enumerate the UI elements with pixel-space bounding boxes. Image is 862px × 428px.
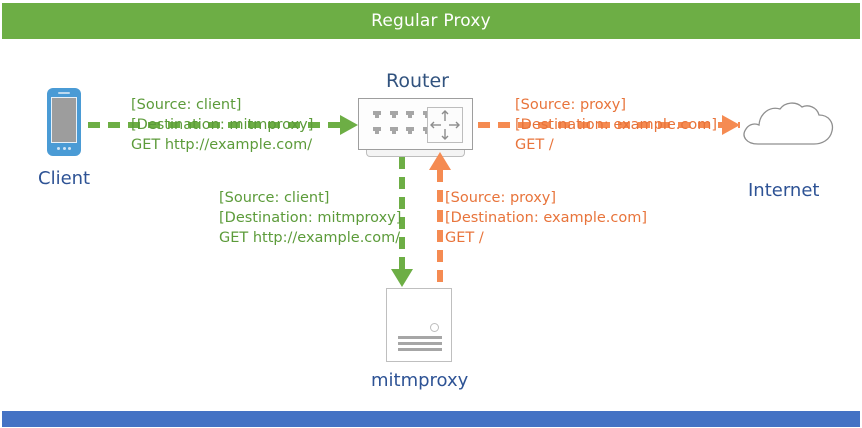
router-port [404, 111, 417, 124]
document-text-line [398, 342, 442, 345]
flow-router-to-mitmproxy-arrowhead [391, 269, 413, 287]
page-title: Regular Proxy [371, 11, 491, 31]
flow-mitmproxy-to-router-arrowhead [429, 152, 451, 170]
document-circle-mark [430, 323, 439, 332]
packet-line: [Destination: mitmproxy] [219, 208, 401, 228]
flow-router-to-internet-label: [Source: proxy] [Destination: example.co… [515, 95, 717, 155]
client-label: Client [38, 168, 90, 189]
router-port [388, 127, 401, 140]
document-text-line [398, 348, 442, 351]
router-port [404, 127, 417, 140]
router-port [371, 111, 384, 124]
packet-line: GET / [445, 228, 647, 248]
packet-line: [Source: proxy] [515, 95, 717, 115]
phone-screen [51, 97, 77, 143]
packet-line: [Source: client] [131, 95, 313, 115]
cloud-icon [738, 96, 838, 156]
packet-line: GET http://example.com/ [219, 228, 401, 248]
internet-label: Internet [748, 180, 819, 201]
phone-speaker [58, 92, 70, 94]
router-title: Router [386, 70, 449, 92]
diagram-canvas: Regular Proxy Client [Source: client] [D… [0, 0, 862, 428]
router-port [371, 127, 384, 140]
flow-router-to-mitmproxy-label: [Source: client] [Destination: mitmproxy… [219, 188, 401, 248]
top-banner: Regular Proxy [2, 3, 860, 39]
flow-client-to-router-arrowhead [340, 115, 358, 135]
packet-line: [Destination: example.com] [515, 115, 717, 135]
packet-line: GET / [515, 135, 717, 155]
document-icon [386, 288, 452, 362]
packet-line: [Source: client] [219, 188, 401, 208]
router-four-arrows-icon [427, 107, 463, 143]
flow-mitmproxy-to-router-label: [Source: proxy] [Destination: example.co… [445, 188, 647, 248]
router-ports [371, 111, 433, 139]
bottom-banner [2, 411, 860, 427]
phone-home-dots [57, 146, 71, 150]
smartphone-icon [47, 88, 81, 156]
flow-mitmproxy-to-router-line [437, 170, 443, 298]
mitmproxy-label: mitmproxy [371, 370, 468, 391]
flow-client-to-router-label: [Source: client] [Destination: mitmproxy… [131, 95, 313, 155]
packet-line: [Source: proxy] [445, 188, 647, 208]
packet-line: [Destination: mitmproxy] [131, 115, 313, 135]
packet-line: GET http://example.com/ [131, 135, 313, 155]
document-text-line [398, 336, 442, 339]
packet-line: [Destination: example.com] [445, 208, 647, 228]
router-port [388, 111, 401, 124]
router-icon [358, 98, 473, 150]
